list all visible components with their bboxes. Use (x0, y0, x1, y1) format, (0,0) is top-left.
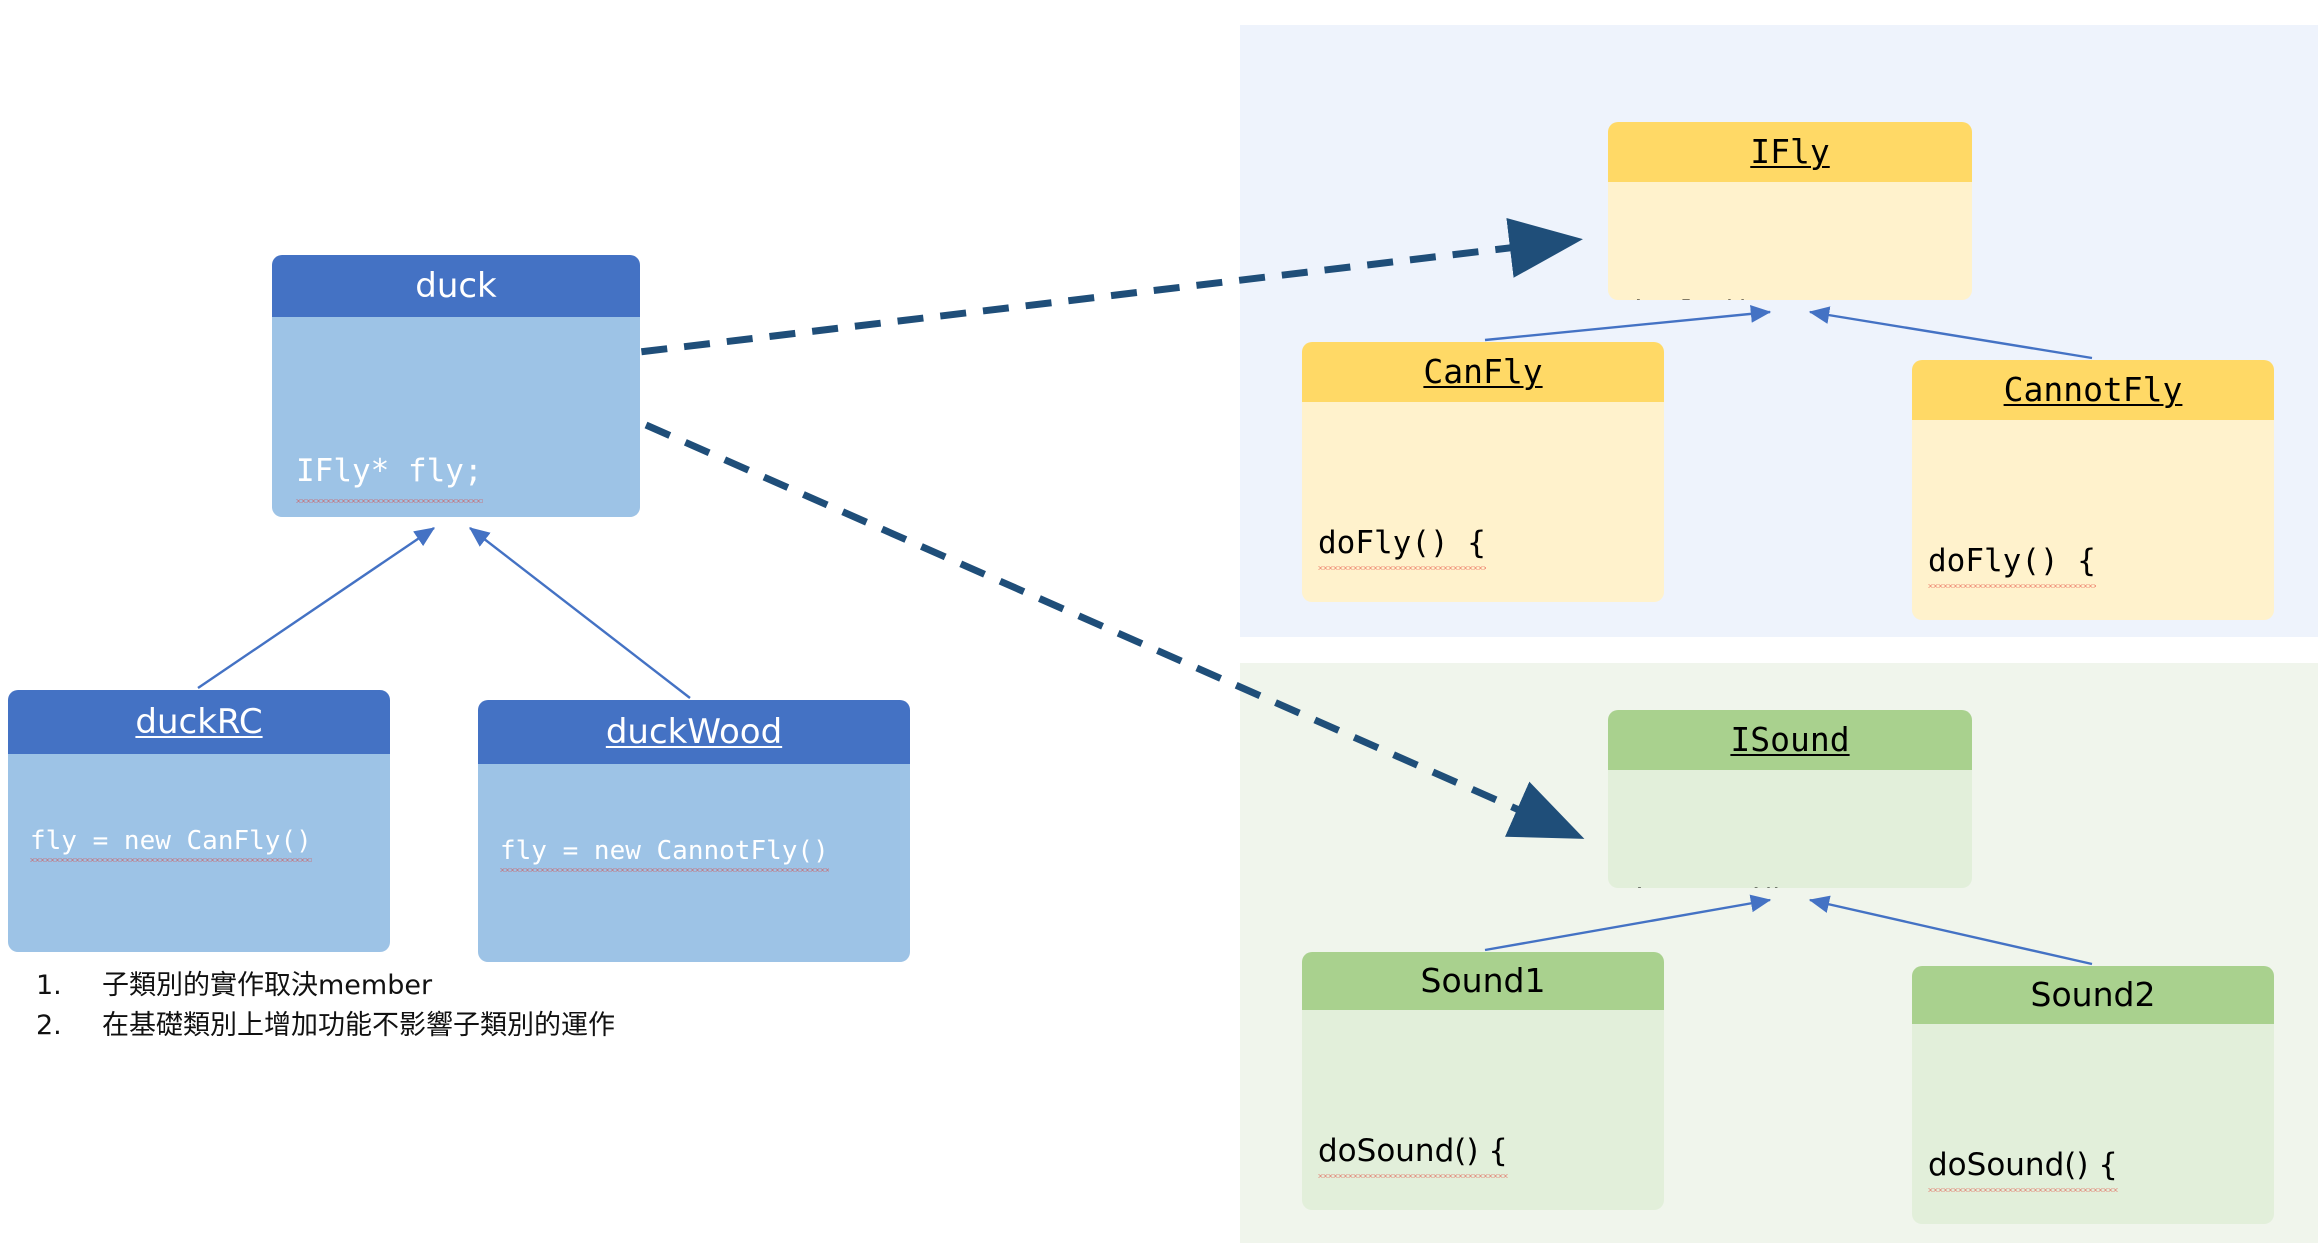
method-row-dosound: doSound() (1624, 876, 1972, 888)
class-box-duckwood[interactable]: duckWood fly = new CannotFly() (478, 700, 910, 962)
method-dosound: doSound() (1624, 876, 1784, 888)
class-body-cannotfly: doFly() { “Cannot fly” } (1912, 420, 2274, 620)
class-title-cannotfly: CannotFly (1912, 360, 2274, 420)
class-body-ifly: doFly() … (1608, 182, 1972, 300)
link-duckwood-to-duck (470, 528, 690, 698)
diagram-canvas: IFly : dashed dependency --> ISound : da… (0, 0, 2318, 1258)
class-title-ifly: IFly (1608, 122, 1972, 182)
class-box-sound1[interactable]: Sound1 doSound() { “Sound1” } (1302, 952, 1664, 1210)
class-body-sound1: doSound() { “Sound1” } (1302, 1010, 1664, 1210)
class-box-cannotfly[interactable]: CannotFly doFly() { “Cannot fly” } (1912, 360, 2274, 620)
class-body-canfly: doFly() { “Can fly” } (1302, 402, 1664, 602)
class-box-duckrc[interactable]: duckRC fly = new CanFly() (8, 690, 390, 952)
cannotfly-line-1: doFly() { (1928, 538, 2274, 584)
class-title-duckwood: duckWood (478, 700, 910, 764)
class-body-isound: doSound() … (1608, 770, 1972, 888)
note-number: 1. (36, 966, 102, 1006)
link-duckrc-to-duck (198, 528, 434, 688)
class-title-canfly: CanFly (1302, 342, 1664, 402)
class-title-duckrc: duckRC (8, 690, 390, 754)
member-row-fly: IFly* fly; (296, 443, 640, 499)
duckwood-assignment: fly = new CannotFly() (500, 834, 829, 868)
note-number: 2. (36, 1006, 102, 1046)
class-title-isound: ISound (1608, 710, 1972, 770)
class-box-duck[interactable]: duck IFly* fly; Isound* sound; … (272, 255, 640, 517)
class-title-sound2: Sound2 (1912, 966, 2274, 1024)
duckrc-assignment: fly = new CanFly() (30, 824, 312, 858)
class-box-isound[interactable]: ISound doSound() … (1608, 710, 1972, 888)
sound1-line-1: doSound() { (1318, 1128, 1664, 1174)
class-body-duckrc: fly = new CanFly() (8, 754, 390, 952)
class-body-duck: IFly* fly; Isound* sound; … (272, 317, 640, 517)
class-box-ifly[interactable]: IFly doFly() … (1608, 122, 1972, 300)
class-box-canfly[interactable]: CanFly doFly() { “Can fly” } (1302, 342, 1664, 602)
notes-list: 1. 子類別的實作取決member 2. 在基礎類別上增加功能不影響子類別的運作 (36, 966, 796, 1046)
list-item: 1. 子類別的實作取決member (36, 966, 796, 1006)
note-text: 子類別的實作取決member (102, 966, 796, 1006)
method-row-dofly: doFly() (1624, 288, 1972, 300)
class-body-sound2: doSound() { “Sound2” } (1912, 1024, 2274, 1224)
sound2-line-1: doSound() { (1928, 1142, 2274, 1188)
note-text: 在基礎類別上增加功能不影響子類別的運作 (102, 1006, 796, 1046)
canfly-line-1: doFly() { (1318, 520, 1664, 566)
method-dofly: doFly() (1624, 288, 1755, 300)
class-title-duck: duck (272, 255, 640, 317)
member-fly: IFly* fly; (296, 443, 483, 499)
class-box-sound2[interactable]: Sound2 doSound() { “Sound2” } (1912, 966, 2274, 1224)
list-item: 2. 在基礎類別上增加功能不影響子類別的運作 (36, 1006, 796, 1046)
class-body-duckwood: fly = new CannotFly() (478, 764, 910, 962)
class-title-sound1: Sound1 (1302, 952, 1664, 1010)
